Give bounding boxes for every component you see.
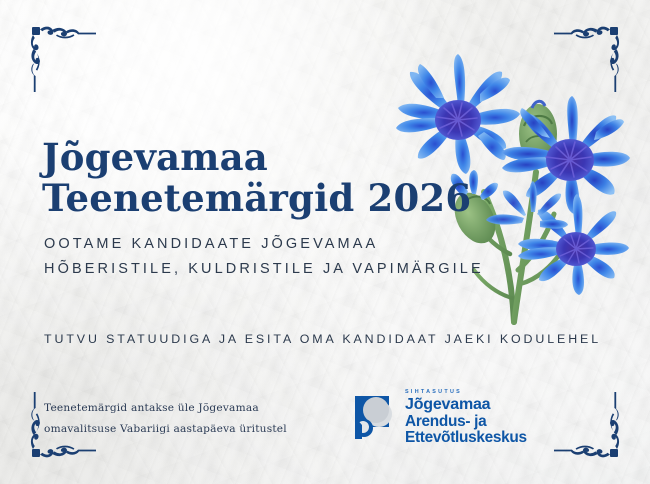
logo-kicker: SIHTASUTUS — [405, 390, 602, 395]
footnote-line-2: omavalitsuse Vabariigi aastapäeva üritus… — [44, 419, 324, 440]
subtitle-block: OOTAME KANDIDAATE JÕGEVAMAA HÕBERISTILE,… — [44, 232, 564, 282]
footnote-line-1: Teenetemärgid antakse üle Jõgevamaa — [44, 398, 324, 419]
logo-text-block: SIHTASUTUS Jõgevamaa Arendus- ja Ettevõt… — [405, 389, 602, 445]
logo-name-line-2: Arendus- ja Ettevõtluskeskus — [405, 414, 602, 445]
subtitle-line-2: HÕBERISTILE, KULDRISTILE JA VAPIMÄRGILE — [44, 257, 564, 282]
cornflower-bloom-2 — [502, 96, 630, 214]
logo-name-line-1: Jõgevamaa — [405, 397, 602, 413]
logo-mark-icon — [352, 395, 398, 440]
call-to-action-text: TUTVU STATUUDIGA JA ESITA OMA KANDIDAAT … — [44, 332, 624, 346]
poster-canvas: Jõgevamaa Teenetemärgid 2026 OOTAME KAND… — [0, 0, 650, 484]
title-line-2: Teenetemärgid 2026 — [42, 178, 472, 219]
page-title: Jõgevamaa Teenetemärgid 2026 — [42, 137, 472, 220]
subtitle-line-1: OOTAME KANDIDAATE JÕGEVAMAA — [44, 232, 564, 257]
footnote-block: Teenetemärgid antakse üle Jõgevamaa omav… — [44, 398, 324, 440]
organization-logo: SIHTASUTUS Jõgevamaa Arendus- ja Ettevõt… — [352, 392, 602, 442]
corner-ornament-top-left-icon — [14, 14, 100, 94]
title-line-1: Jõgevamaa — [42, 137, 472, 178]
